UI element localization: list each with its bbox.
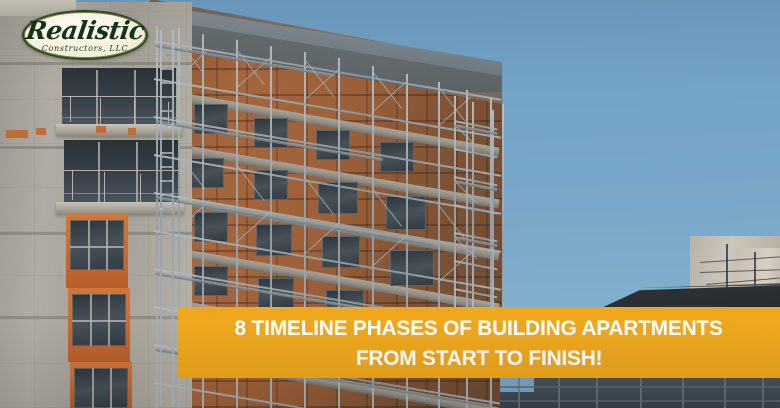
window-mullion — [96, 70, 98, 124]
sky-gap — [500, 378, 534, 392]
railing-post — [100, 98, 101, 124]
railing-post — [104, 172, 105, 202]
window-opening — [316, 130, 350, 160]
window-mullion — [134, 70, 136, 126]
window-opening — [322, 236, 360, 268]
strip-post — [640, 378, 642, 408]
railing-post — [140, 174, 141, 204]
balcony-railing — [62, 96, 178, 118]
window-mullion — [92, 368, 94, 408]
strip-post — [762, 378, 764, 408]
window-opening — [380, 142, 414, 172]
window-opening — [258, 278, 294, 308]
window-mullion — [88, 220, 90, 270]
strip-post — [518, 378, 520, 408]
logo-brand-text: Realistic — [20, 16, 150, 45]
railing-post — [172, 176, 173, 206]
strip-post — [558, 378, 560, 408]
window-opening — [318, 182, 358, 214]
balcony-railing — [64, 170, 182, 194]
window-mullion — [136, 142, 138, 204]
window-opening — [390, 250, 434, 286]
window-mullion — [106, 220, 108, 270]
balcony-slab — [56, 202, 184, 214]
window-opening — [194, 104, 228, 134]
window-opening — [254, 170, 288, 200]
brick-patch — [36, 128, 46, 135]
lower-structure-strip — [500, 378, 780, 408]
company-logo[interactable]: Realistic Constructors, LLC — [22, 10, 148, 60]
brick-patch — [96, 126, 106, 133]
strip-rail — [500, 386, 780, 388]
brick-patch — [6, 130, 28, 138]
window-mullion — [98, 142, 100, 202]
window-opening — [256, 224, 292, 256]
window-opening — [254, 118, 288, 148]
railing-post — [168, 102, 169, 128]
railing-post — [70, 96, 71, 122]
window-opening — [194, 212, 228, 242]
title-banner: 8 TIMELINE PHASES OF BUILDING APARTMENTS… — [178, 307, 780, 378]
window-mullion — [110, 368, 112, 408]
window-mullion — [72, 320, 126, 322]
banner-line-2: FROM START TO FINISH! — [356, 343, 603, 373]
balcony-slab — [56, 124, 182, 136]
railing-post — [72, 170, 73, 200]
window-mullion — [70, 246, 124, 248]
tower-window — [74, 368, 128, 408]
header-image: 8 TIMELINE PHASES OF BUILDING APARTMENTS… — [0, 0, 780, 408]
strip-post — [724, 378, 726, 408]
brick-patch — [128, 128, 136, 135]
strip-post — [596, 378, 598, 408]
banner-line-1: 8 TIMELINE PHASES OF BUILDING APARTMENTS — [235, 313, 723, 343]
window-opening — [194, 266, 228, 296]
tower-window — [70, 220, 124, 270]
tower-floor-line — [0, 62, 192, 65]
window-opening — [190, 158, 224, 188]
strip-rail — [500, 400, 780, 402]
logo-tagline-text: Constructors, LLC — [22, 44, 148, 53]
window-opening — [386, 196, 426, 230]
strip-post — [682, 378, 684, 408]
